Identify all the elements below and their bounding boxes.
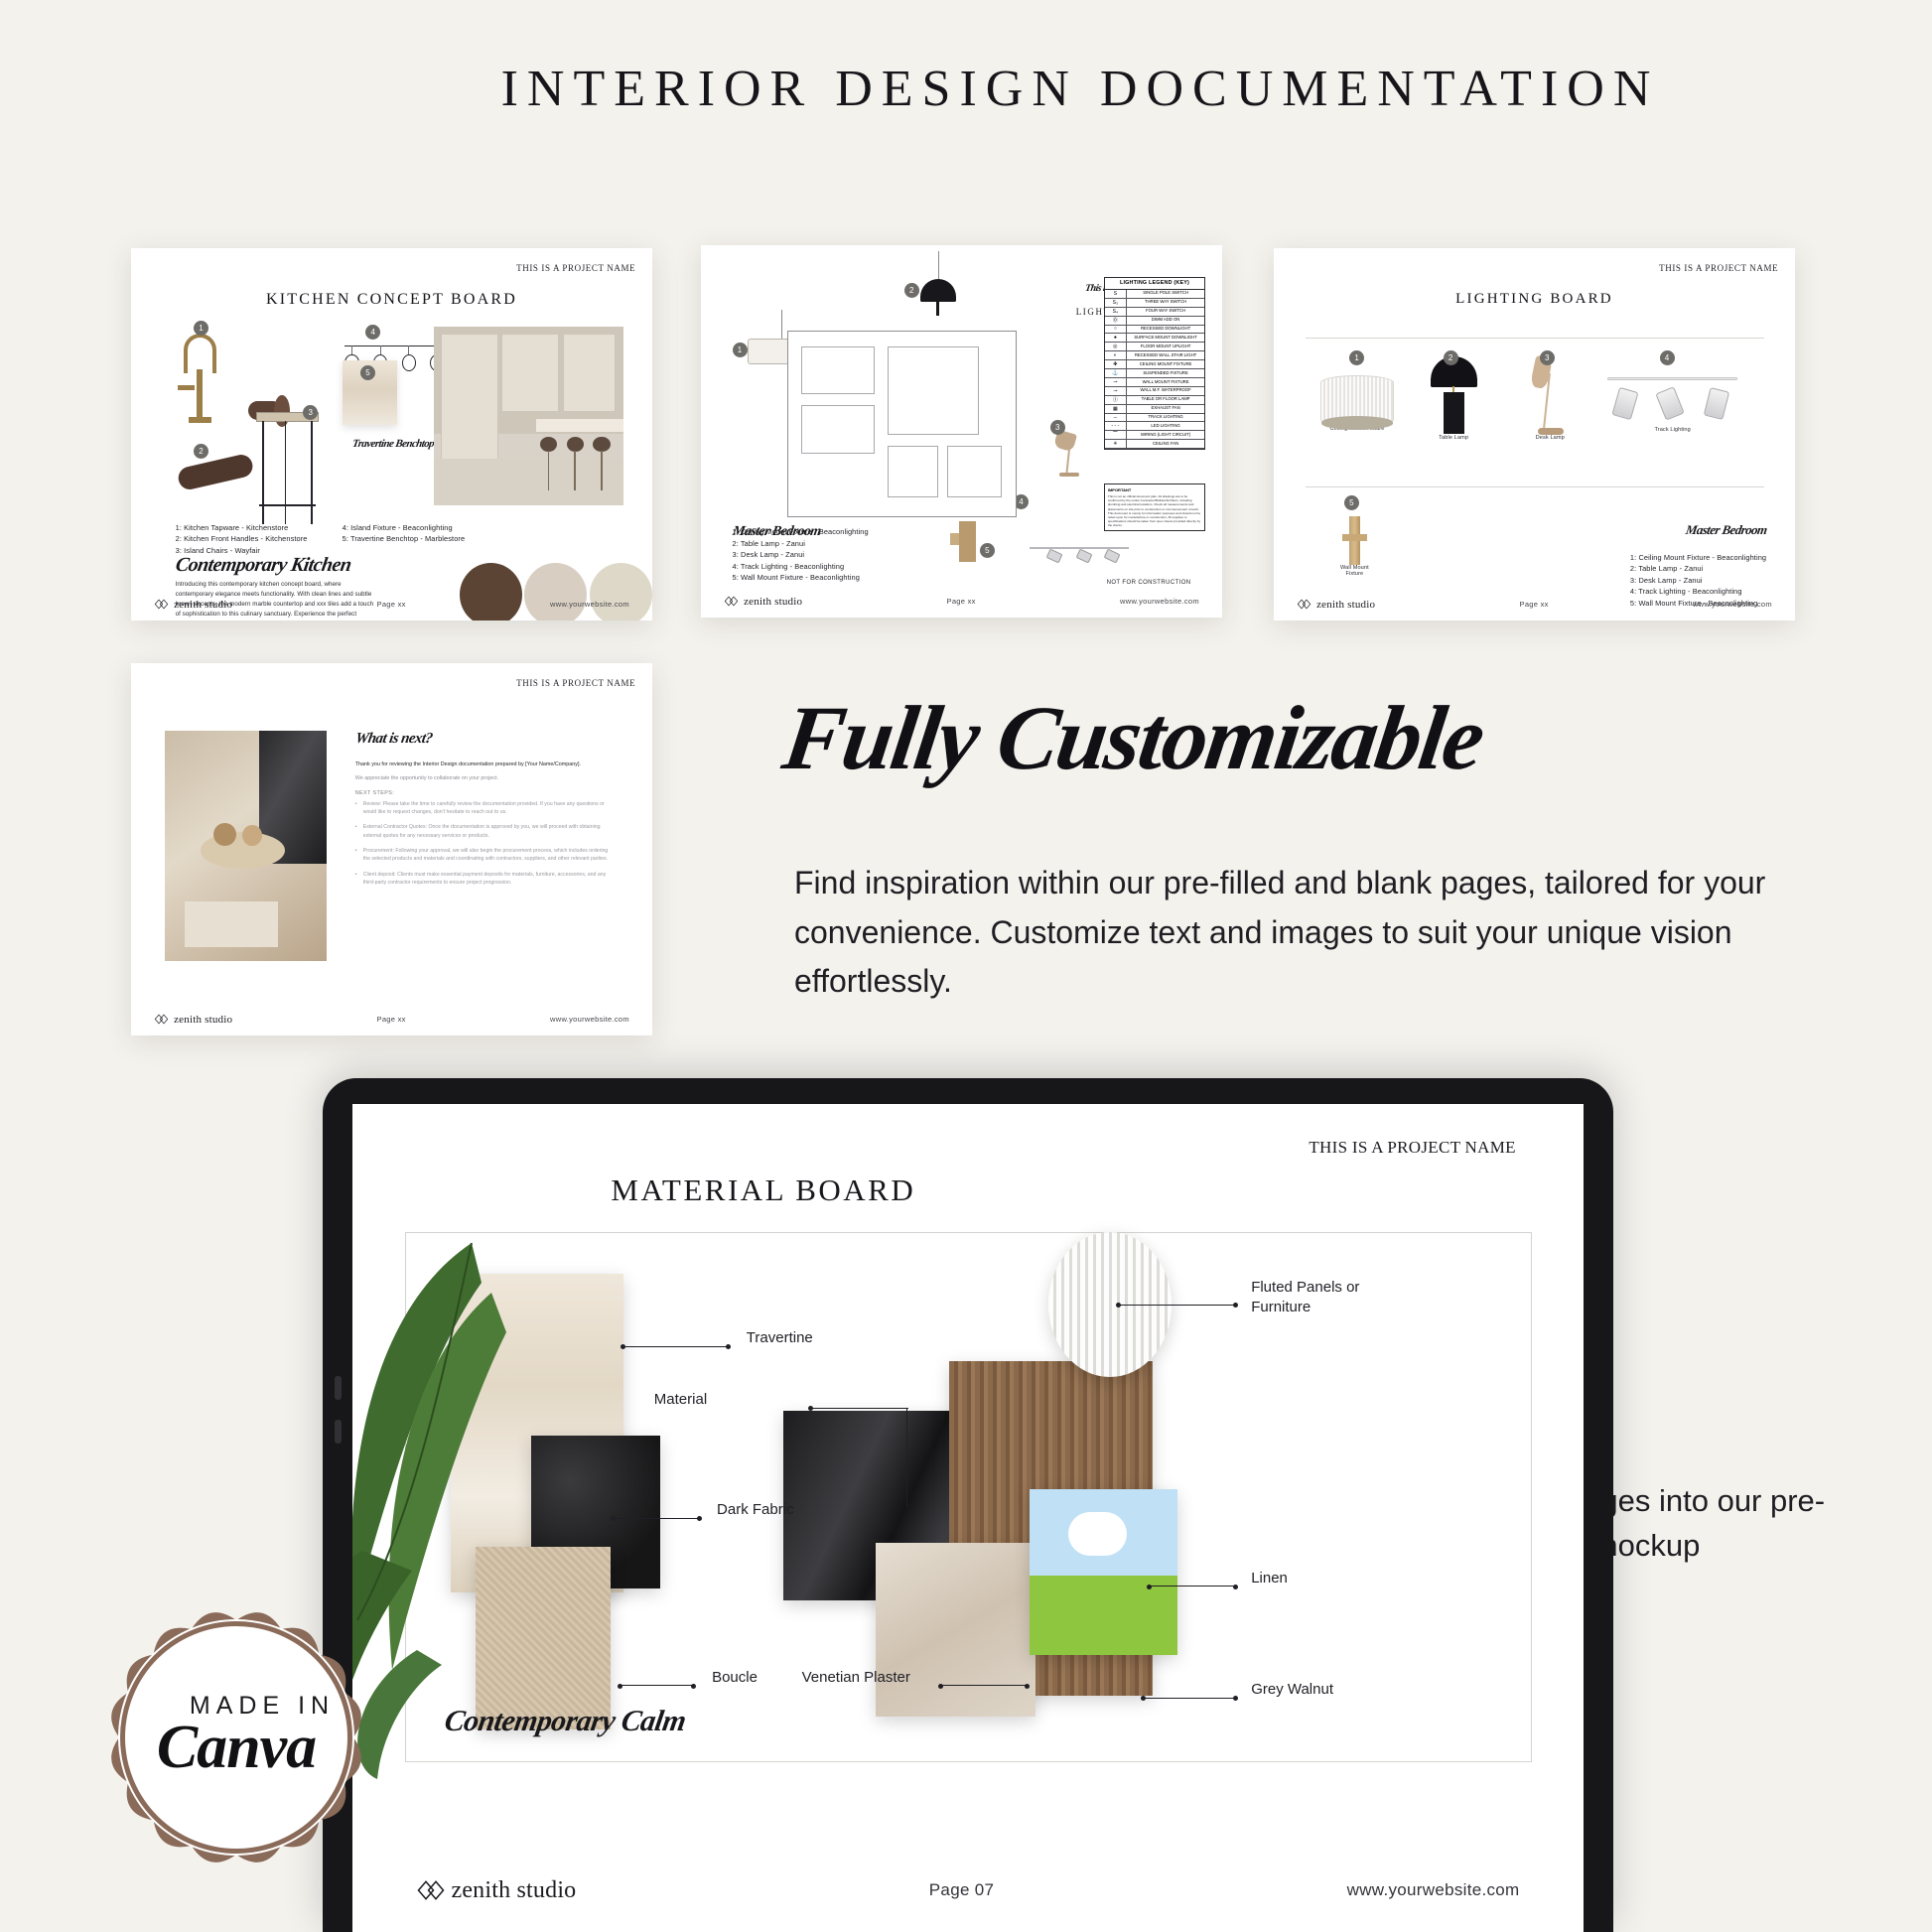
swatch-venetian-plaster: Venetian Plaster <box>524 563 587 621</box>
fixture-caption: Ceiling Mount Fixture <box>1321 426 1393 432</box>
next-steps-list: Review: Please take the time to carefull… <box>355 800 617 888</box>
legend-line: 2: Table Lamp - Zanui <box>1630 563 1766 574</box>
legend-label: CEILING MOUNT FIXTURE <box>1127 360 1204 368</box>
label-boucle: Boucle <box>712 1669 758 1686</box>
legend-symbol-icon: - - - <box>1105 422 1127 430</box>
legend-line: 5: Travertine Benchtop - Marblestore <box>343 533 466 544</box>
marker-1: 1 <box>1349 350 1364 365</box>
website-url: www.yourwebsite.com <box>1693 600 1772 609</box>
fixture-caption: Wall Mount Fixture <box>1331 565 1378 577</box>
legend-label: FOUR WAY SWITCH <box>1127 308 1204 316</box>
legend-line: 3: Desk Lamp - Zanui <box>733 549 869 560</box>
swatch-kitchen-front: Kitchen Front <box>590 563 652 621</box>
legend-symbol-icon: ⚓ <box>1105 369 1127 377</box>
legend-label: EXHAUST FAN <box>1127 405 1204 413</box>
studio-name: zenith studio <box>174 1014 232 1026</box>
page-number: Page xx <box>232 1015 550 1024</box>
swatch-grey-walnut: Grey Walnut Accessories <box>460 563 522 621</box>
marker-5: 5 <box>1344 495 1359 510</box>
legend-label: DIMM ADD ON <box>1127 317 1204 325</box>
fixture-caption: Table Lamp <box>1431 435 1477 441</box>
legend-row: SSINGLE POLE SWITCH <box>1105 290 1204 299</box>
legend-row: ⊸WALL M.F. WATERPROOF <box>1105 387 1204 396</box>
next-intro-2: We appreciate the opportunity to collabo… <box>355 774 617 783</box>
travertine-benchtop-script: Travertine Benchtop <box>351 438 435 450</box>
website-url: www.yourwebsite.com <box>550 1015 629 1024</box>
card-project-name: THIS IS A PROJECT NAME <box>516 678 635 688</box>
page-title: INTERIOR DESIGN DOCUMENTATION <box>0 60 1932 118</box>
studio-name: zenith studio <box>174 599 232 611</box>
fixture-desk-lamp: Desk Lamp <box>1529 356 1571 435</box>
brand-logo: zenith studio <box>154 597 232 612</box>
zenith-logo-icon <box>1297 597 1311 612</box>
brand-logo: zenith studio <box>154 1012 232 1027</box>
legend-line: 4: Track Lighting - Beaconlighting <box>733 561 869 572</box>
legend-symbol-icon: ▦ <box>1105 405 1127 413</box>
tablet-mockup[interactable]: THIS IS A PROJECT NAME MATERIAL BOARD Tr… <box>323 1078 1613 1932</box>
tapware-graphic <box>176 334 222 423</box>
legend-row: ─TRACK LIGHTING <box>1105 414 1204 423</box>
important-title: IMPORTANT <box>1108 487 1201 492</box>
legend-line: 3: Desk Lamp - Zanui <box>1630 575 1766 586</box>
legend-line: 2: Table Lamp - Zanui <box>733 538 869 549</box>
marker-4: 4 <box>1660 350 1675 365</box>
brand-logo: zenith studio <box>724 594 802 609</box>
table-lamp-graphic <box>920 279 957 317</box>
card-lighting-board[interactable]: THIS IS A PROJECT NAME LIGHTING BOARD Ce… <box>1274 248 1795 621</box>
list-item: Review: Please take the time to carefull… <box>355 800 617 817</box>
legend-row: ⒹDIMM ADD ON <box>1105 317 1204 326</box>
kitchen-photo <box>434 327 624 505</box>
legend-symbol-icon: ◎ <box>1105 343 1127 350</box>
material-board-project-name: THIS IS A PROJECT NAME <box>1309 1138 1515 1158</box>
card-title: LIGHTING BOARD <box>1274 291 1795 308</box>
fixture-caption: Desk Lamp <box>1529 435 1571 441</box>
legend-label: WALL MOUNT FIXTURE <box>1127 378 1204 386</box>
website-url: www.yourwebsite.com <box>1347 1880 1520 1900</box>
marker-3: 3 <box>1050 420 1065 435</box>
legend-row: ⚓SUSPENDED FIXTURE <box>1105 369 1204 378</box>
desk-lamp-graphic <box>1055 432 1087 477</box>
legend-label: LED LIGHTING <box>1127 422 1204 430</box>
legend-row: ◎FLOOR MOUNT UPLIGHT <box>1105 343 1204 351</box>
next-intro: Thank you for reviewing the Interior Des… <box>355 760 617 769</box>
contemporary-calm-heading: Contemporary Calm <box>442 1705 688 1738</box>
list-item: Client deposit: Clients must make essent… <box>355 871 617 888</box>
card-footer: zenith studio Page xx www.yourwebsite.co… <box>701 594 1222 609</box>
card-lighting-plan[interactable]: This is a Project Name LIGHTING PLAN 1 2… <box>701 245 1222 618</box>
fixture-ceiling-mount: Ceiling Mount Fixture <box>1320 375 1394 428</box>
card-kitchen-concept-board[interactable]: THIS IS A PROJECT NAME KITCHEN CONCEPT B… <box>131 248 652 621</box>
legend-row: S₄FOUR WAY SWITCH <box>1105 308 1204 317</box>
legend-label: TABLE OR FLOOR LAMP <box>1127 396 1204 404</box>
website-url: www.yourwebsite.com <box>550 600 629 609</box>
zenith-logo-icon <box>416 1875 446 1905</box>
marker-2: 2 <box>904 283 919 298</box>
wall-mount-fixture-graphic <box>959 521 976 562</box>
legend-symbol-icon: ✳ <box>1105 440 1127 448</box>
legend-label: WIRING (LIGHT CIRCUIT) <box>1127 431 1204 439</box>
promo-headline: Fully Customizable <box>777 685 1490 790</box>
material-board-title: MATERIAL BOARD <box>611 1173 915 1208</box>
legend-symbol-icon: ◐ <box>1105 351 1127 359</box>
canva-badge-inner: MADE IN Canva <box>125 1626 347 1849</box>
label-fluted-panels: Fluted Panels or Furniture <box>1251 1278 1380 1318</box>
marker-3: 3 <box>1540 350 1555 365</box>
legend-line: 4: Track Lighting - Beaconlighting <box>1630 586 1766 597</box>
legend-line: 1: Ceiling Mount Fixture - Beaconlightin… <box>1630 552 1766 563</box>
floor-plan-drawing <box>787 331 1017 517</box>
legend-row: ▦EXHAUST FAN <box>1105 405 1204 414</box>
list-item: External Contractor Quotes: Once the doc… <box>355 823 617 840</box>
contemporary-kitchen-heading: Contemporary Kitchen <box>174 554 352 577</box>
legend-label: RECESSED WALL STAIR LIGHT <box>1127 351 1204 359</box>
label-material: Material <box>654 1391 707 1408</box>
marker-2: 2 <box>1444 350 1458 365</box>
canva-wordmark: Canva <box>157 1713 316 1783</box>
legend-row: ●SURFACE MOUNT DOWNLIGHT <box>1105 334 1204 343</box>
legend-line: 2: Kitchen Front Handles - Kitchenstore <box>176 533 308 544</box>
card-title: KITCHEN CONCEPT BOARD <box>131 291 652 309</box>
legend-label: SUSPENDED FIXTURE <box>1127 369 1204 377</box>
legend-row: - - -LED LIGHTING <box>1105 422 1204 431</box>
legend-symbol-icon: ✤ <box>1105 360 1127 368</box>
legend-symbol-icon: S₄ <box>1105 308 1127 316</box>
legend-line: 1: Kitchen Tapware - Kitchenstore <box>176 522 308 533</box>
studio-name: zenith studio <box>451 1877 576 1904</box>
legend-row: ✤CEILING MOUNT FIXTURE <box>1105 360 1204 369</box>
brand-logo: zenith studio <box>416 1875 576 1905</box>
promo-body: Find inspiration within our pre-filled a… <box>794 859 1847 1007</box>
label-travertine: Travertine <box>747 1329 813 1346</box>
material-board-footer: zenith studio Page 07 www.yourwebsite.co… <box>352 1875 1584 1905</box>
legend-label: SINGLE POLE SWITCH <box>1127 290 1204 298</box>
plan-legend: 1: Ceiling Mount Fixture - Beaconlightin… <box>733 526 869 583</box>
list-item: Procurement: Following your approval, we… <box>355 847 617 864</box>
zenith-logo-icon <box>154 1012 169 1027</box>
label-venetian-plaster: Venetian Plaster <box>802 1669 910 1686</box>
page-number: Page 07 <box>576 1880 1346 1900</box>
card-what-is-next[interactable]: THIS IS A PROJECT NAME What is next? Tha… <box>131 663 652 1035</box>
island-chair-graphic <box>256 412 319 524</box>
material-boucle <box>476 1547 611 1728</box>
master-bedroom-script: Master Bedroom <box>1684 522 1767 538</box>
zenith-logo-icon <box>724 594 739 609</box>
tablet-screen[interactable]: THIS IS A PROJECT NAME MATERIAL BOARD Tr… <box>352 1104 1584 1932</box>
important-note: IMPORTANT This is not an official docume… <box>1104 483 1205 531</box>
marker-5: 5 <box>980 543 995 558</box>
fixture-table-lamp: Table Lamp <box>1431 356 1477 435</box>
legend-label: RECESSED DOWNLIGHT <box>1127 326 1204 334</box>
legend-row: ○RECESSED DOWNLIGHT <box>1105 326 1204 335</box>
legend-symbol-icon: S <box>1105 290 1127 298</box>
legend-row: ◐RECESSED WALL STAIR LIGHT <box>1105 351 1204 360</box>
material-linen <box>1030 1489 1177 1655</box>
legend-symbol-icon: ⊸ <box>1105 387 1127 395</box>
legend-label: CEILING FAN <box>1127 440 1204 448</box>
legend-label: FLOOR MOUNT UPLIGHT <box>1127 343 1204 350</box>
next-body: Thank you for reviewing the Interior Des… <box>355 760 617 895</box>
legend-title: LIGHTING LEGEND (KEY) <box>1105 278 1204 290</box>
marker-1: 1 <box>733 343 748 357</box>
page-number: Page xx <box>1375 600 1693 609</box>
legend-row: S₃THREE WAY SWITCH <box>1105 299 1204 308</box>
legend-label: WALL M.F. WATERPROOF <box>1127 387 1204 395</box>
handle-graphic <box>177 452 255 490</box>
legend-line: 1: Ceiling Mount Fixture - Beaconlightin… <box>733 526 869 537</box>
card-project-name: THIS IS A PROJECT NAME <box>1659 263 1778 273</box>
track-lighting-graphic <box>1030 543 1129 562</box>
fixture-wall-mount: Wall Mount Fixture <box>1331 516 1378 565</box>
made-in-canva-badge: MADE IN Canva <box>87 1588 385 1886</box>
legend-label: SURFACE MOUNT DOWNLIGHT <box>1127 334 1204 342</box>
marker-2: 2 <box>194 444 208 459</box>
fixture-track-lighting: Track Lighting <box>1607 363 1737 427</box>
legend-row: ⊸WALL MOUNT FIXTURE <box>1105 378 1204 387</box>
legend-symbol-icon: ○ <box>1105 326 1127 334</box>
zenith-logo-icon <box>154 597 169 612</box>
legend-symbol-icon: Ⓓ <box>1105 317 1127 325</box>
legend-symbol-icon: ⊸ <box>1105 378 1127 386</box>
styled-table-photo <box>165 731 327 962</box>
legend-label: TRACK LIGHTING <box>1127 414 1204 422</box>
legend-symbol-icon: ● <box>1105 334 1127 342</box>
next-steps-title: NEXT STEPS: <box>355 790 617 796</box>
legend-label: THREE WAY SWITCH <box>1127 299 1204 307</box>
label-grey-walnut: Grey Walnut <box>1251 1681 1333 1698</box>
legend-row: ⁀WIRING (LIGHT CIRCUIT) <box>1105 431 1204 440</box>
what-is-next-heading: What is next? <box>353 731 433 748</box>
material-venetian-plaster <box>876 1543 1035 1717</box>
card-project-name: THIS IS A PROJECT NAME <box>516 263 635 273</box>
legend-symbol-icon: ─ <box>1105 414 1127 422</box>
card-footer: zenith studio Page xx www.yourwebsite.co… <box>1274 597 1795 612</box>
legend-line: 5: Wall Mount Fixture - Beaconlighting <box>733 572 869 583</box>
studio-name: zenith studio <box>744 596 802 608</box>
lighting-legend-key: LIGHTING LEGEND (KEY) SSINGLE POLE SWITC… <box>1104 277 1205 450</box>
kitchen-legend: 1: Kitchen Tapware - Kitchenstore 2: Kit… <box>176 522 308 556</box>
legend-line: 4: Island Fixture - Beaconlighting <box>343 522 466 533</box>
studio-name: zenith studio <box>1316 599 1375 611</box>
important-body: This is not an official document plan. A… <box>1108 494 1201 527</box>
card-footer: zenith studio Page xx www.yourwebsite.co… <box>131 597 652 612</box>
label-linen: Linen <box>1251 1570 1288 1587</box>
card-footer: zenith studio Page xx www.yourwebsite.co… <box>131 1012 652 1027</box>
website-url: www.yourwebsite.com <box>1120 597 1199 606</box>
label-dark-fabric: Dark Fabric <box>717 1501 794 1518</box>
legend-symbol-icon: Ⓘ <box>1105 396 1127 404</box>
brand-logo: zenith studio <box>1297 597 1375 612</box>
marker-3: 3 <box>303 405 318 420</box>
legend-symbol-icon: ⁀ <box>1105 431 1127 439</box>
legend-row: ⒾTABLE OR FLOOR LAMP <box>1105 396 1204 405</box>
legend-symbol-icon: S₃ <box>1105 299 1127 307</box>
fixture-caption: Track Lighting <box>1607 427 1737 433</box>
legend-row: ✳CEILING FAN <box>1105 440 1204 449</box>
page-number: Page xx <box>802 597 1120 606</box>
page-number: Page xx <box>232 600 550 609</box>
not-for-construction-note: NOT FOR CONSTRUCTION <box>1107 580 1191 586</box>
